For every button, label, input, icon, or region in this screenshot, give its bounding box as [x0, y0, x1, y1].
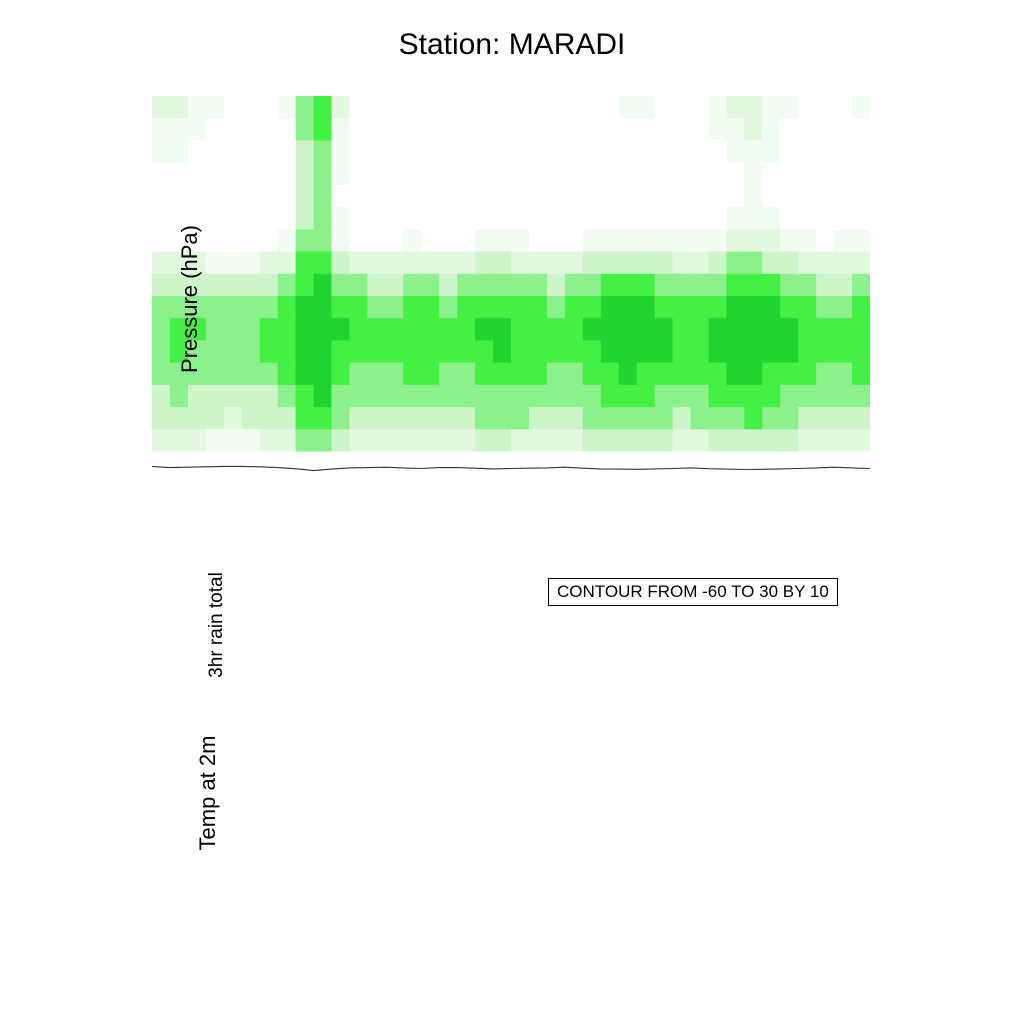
temp-axis-title: Temp at 2m	[195, 663, 221, 923]
rain-bar-chart	[250, 672, 870, 772]
temp-panel: Temp at 2m	[250, 842, 870, 942]
pressure-axis-title: Pressure (hPa)	[177, 169, 203, 429]
page-title: Station: MARADI	[0, 28, 1024, 62]
cross-section-plot	[152, 96, 870, 496]
rain-panel: 3hr rain total	[250, 672, 870, 772]
humidity-colorbar	[914, 96, 954, 496]
temp-line-chart	[250, 842, 870, 942]
contour-caption: CONTOUR FROM -60 TO 30 BY 10	[548, 578, 838, 606]
main-cross-section-panel: Pressure (hPa)	[152, 96, 870, 496]
